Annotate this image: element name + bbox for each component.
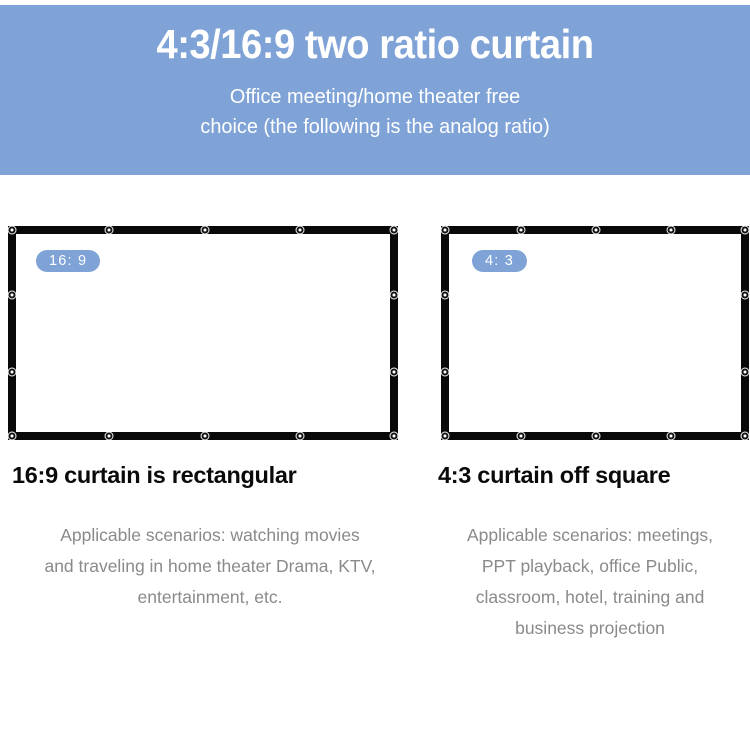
body-line: Applicable scenarios: watching movies bbox=[10, 520, 410, 551]
grommet-icon bbox=[592, 226, 601, 235]
grommet-icon bbox=[390, 226, 399, 235]
projector-screen-4-3-diagram: 4: 3 bbox=[441, 226, 749, 440]
body-line: business projection bbox=[430, 613, 750, 644]
caption-heading-4-3: 4:3 curtain off square bbox=[438, 462, 670, 489]
grommet-icon bbox=[441, 368, 450, 377]
grommet-icon bbox=[105, 226, 114, 235]
projector-screen-16-9-diagram: 16: 9 bbox=[8, 226, 398, 440]
caption-body-4-3: Applicable scenarios: meetings, PPT play… bbox=[430, 520, 750, 645]
ratio-badge-4-3: 4: 3 bbox=[472, 250, 527, 272]
grommet-icon bbox=[8, 432, 17, 441]
grommet-icon bbox=[741, 368, 750, 377]
grommet-icon bbox=[390, 291, 399, 300]
subtitle-line-1: Office meeting/home theater free bbox=[200, 82, 549, 112]
grommet-icon bbox=[441, 432, 450, 441]
body-line: PPT playback, office Public, bbox=[430, 551, 750, 582]
grommet-icon bbox=[441, 291, 450, 300]
grommet-icon bbox=[741, 432, 750, 441]
grommet-icon bbox=[201, 432, 210, 441]
grommet-icon bbox=[667, 226, 676, 235]
grommet-icon bbox=[8, 368, 17, 377]
grommet-icon bbox=[201, 226, 210, 235]
body-line: Applicable scenarios: meetings, bbox=[430, 520, 750, 551]
grommet-icon bbox=[8, 291, 17, 300]
caption-heading-16-9: 16:9 curtain is rectangular bbox=[12, 462, 296, 489]
grommet-icon bbox=[741, 226, 750, 235]
page-title: 4:3/16:9 two ratio curtain bbox=[156, 23, 593, 66]
grommet-icon bbox=[592, 432, 601, 441]
body-line: and traveling in home theater Drama, KTV… bbox=[10, 551, 410, 582]
grommet-icon bbox=[741, 291, 750, 300]
grommet-icon bbox=[105, 432, 114, 441]
grommet-icon bbox=[296, 226, 305, 235]
ratio-badge-16-9: 16: 9 bbox=[36, 250, 100, 272]
grommet-icon bbox=[667, 432, 676, 441]
grommet-icon bbox=[517, 226, 526, 235]
body-line: entertainment, etc. bbox=[10, 582, 410, 613]
caption-body-16-9: Applicable scenarios: watching movies an… bbox=[10, 520, 410, 613]
grommet-icon bbox=[517, 432, 526, 441]
comparison-panels: 16: 9 16:9 curtain is rectangular Applic… bbox=[0, 175, 750, 750]
grommet-icon bbox=[296, 432, 305, 441]
page-subtitle: Office meeting/home theater free choice … bbox=[200, 82, 549, 141]
grommet-icon bbox=[441, 226, 450, 235]
subtitle-line-2: choice (the following is the analog rati… bbox=[200, 112, 549, 142]
grommet-icon bbox=[390, 432, 399, 441]
body-line: classroom, hotel, training and bbox=[430, 582, 750, 613]
header-banner: 4:3/16:9 two ratio curtain Office meetin… bbox=[0, 5, 750, 175]
grommet-icon bbox=[8, 226, 17, 235]
grommet-icon bbox=[390, 368, 399, 377]
